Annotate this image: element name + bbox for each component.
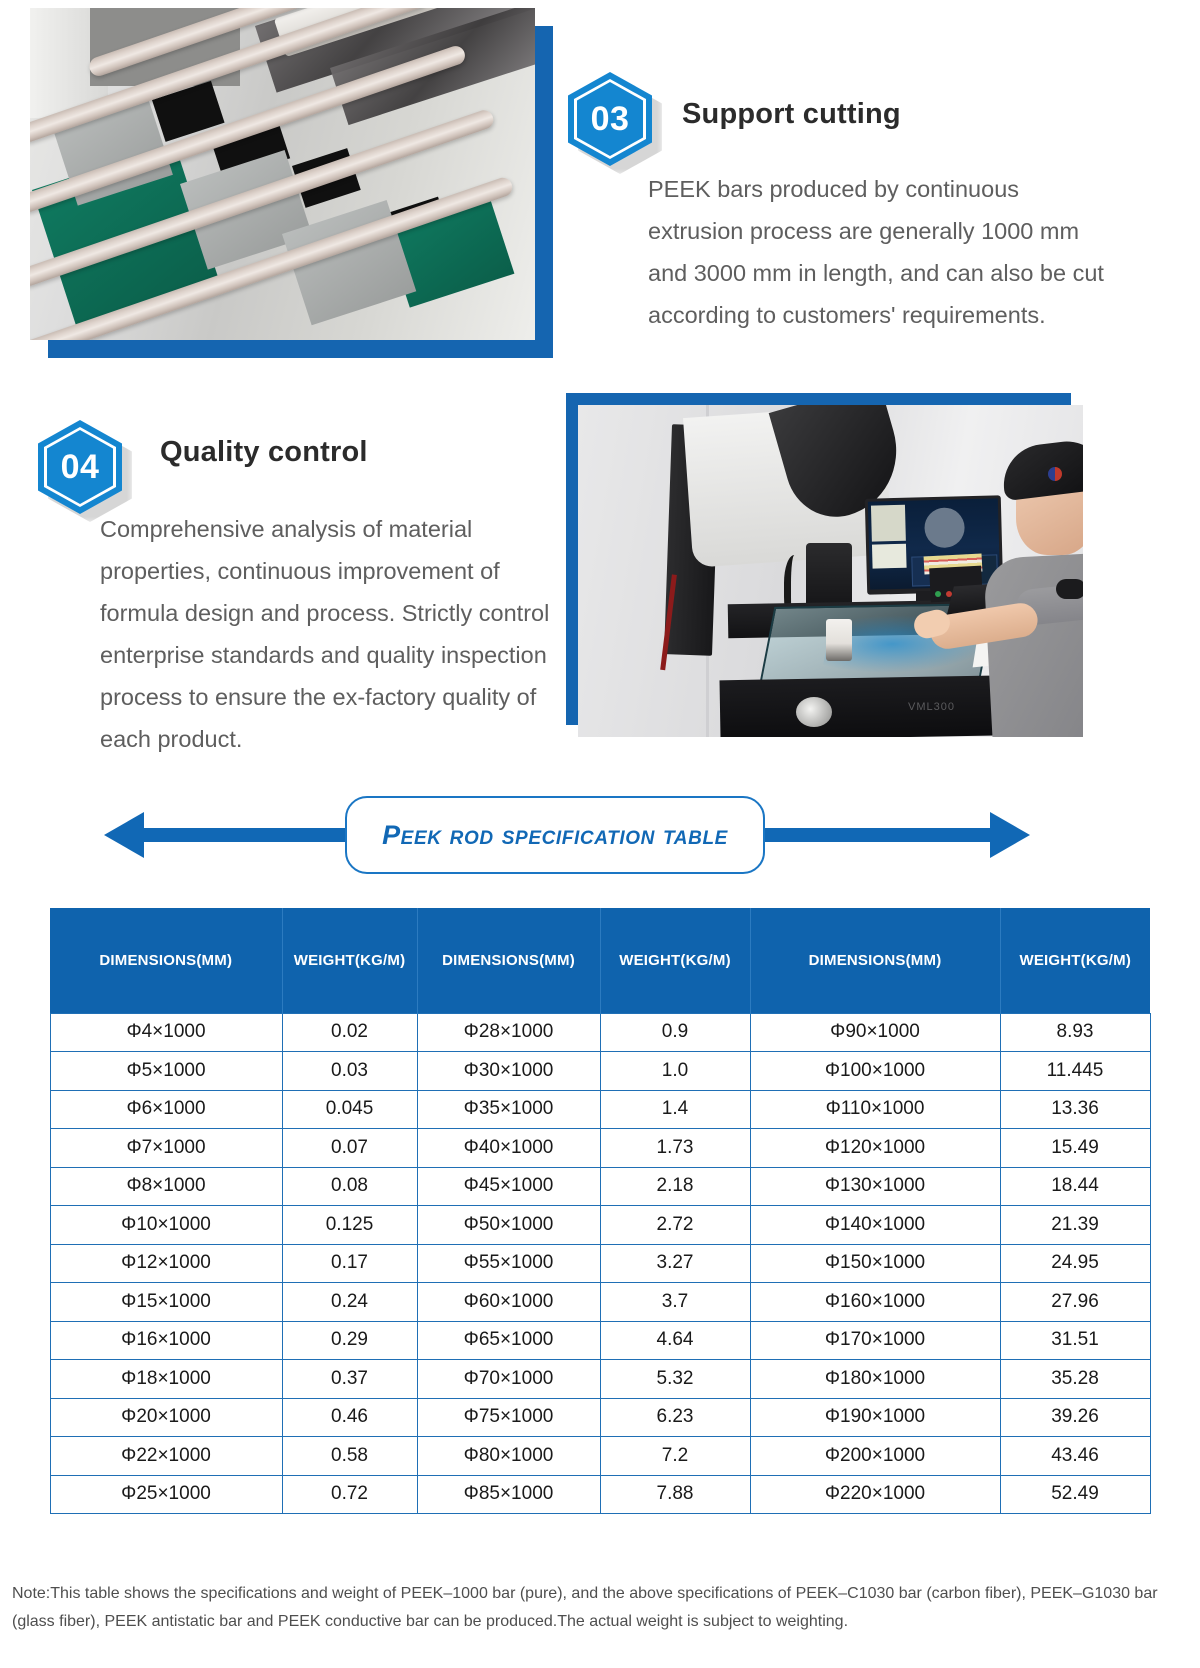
table-cell: 2.72 bbox=[600, 1206, 750, 1245]
table-cell: 0.46 bbox=[282, 1398, 417, 1437]
table-cell: 0.24 bbox=[282, 1283, 417, 1322]
machine-model-label: VML300 bbox=[908, 701, 955, 713]
table-cell: Φ7×1000 bbox=[50, 1129, 282, 1168]
table-body: Φ4×10000.02Φ28×10000.9Φ90×10008.93Φ5×100… bbox=[50, 1013, 1150, 1514]
table-cell: 3.7 bbox=[600, 1283, 750, 1322]
table-cell: 24.95 bbox=[1000, 1244, 1150, 1283]
table-row: Φ12×10000.17Φ55×10003.27Φ150×100024.95 bbox=[50, 1244, 1150, 1283]
table-header-cell: WEIGHT(KG/M) bbox=[600, 908, 750, 1013]
table-cell: Φ40×1000 bbox=[417, 1129, 600, 1168]
table-cell: 0.37 bbox=[282, 1360, 417, 1399]
product-spec-page: 03 Support cutting PEEK bars produced by… bbox=[0, 0, 1200, 1668]
table-cell: Φ15×1000 bbox=[50, 1283, 282, 1322]
table-cell: 31.51 bbox=[1000, 1321, 1150, 1360]
table-cell: Φ190×1000 bbox=[750, 1398, 1000, 1437]
table-header-cell: DIMENSIONS(MM) bbox=[750, 908, 1000, 1013]
table-row: Φ15×10000.24Φ60×10003.7Φ160×100027.96 bbox=[50, 1283, 1150, 1322]
table-cell: Φ4×1000 bbox=[50, 1013, 282, 1052]
peek-rod-specification-table: DIMENSIONS(MM) WEIGHT(KG/M) DIMENSIONS(M… bbox=[50, 908, 1151, 1514]
table-cell: Φ6×1000 bbox=[50, 1090, 282, 1129]
step-badge-03-number: 03 bbox=[568, 72, 652, 166]
quality-control-photo-frame: VML300 bbox=[578, 405, 1090, 750]
table-cell: Φ55×1000 bbox=[417, 1244, 600, 1283]
table-cell: 0.07 bbox=[282, 1129, 417, 1168]
table-cell: 0.17 bbox=[282, 1244, 417, 1283]
table-row: Φ22×10000.58Φ80×10007.2Φ200×100043.46 bbox=[50, 1437, 1150, 1476]
table-cell: Φ22×1000 bbox=[50, 1437, 282, 1476]
arrow-right-icon bbox=[990, 812, 1030, 858]
table-row: Φ16×10000.29Φ65×10004.64Φ170×100031.51 bbox=[50, 1321, 1150, 1360]
table-cell: Φ12×1000 bbox=[50, 1244, 282, 1283]
table-cell: Φ180×1000 bbox=[750, 1360, 1000, 1399]
table-row: Φ25×10000.72Φ85×10007.88Φ220×100052.49 bbox=[50, 1475, 1150, 1514]
table-cell: Φ20×1000 bbox=[50, 1398, 282, 1437]
table-cell: 27.96 bbox=[1000, 1283, 1150, 1322]
table-cell: Φ130×1000 bbox=[750, 1167, 1000, 1206]
section-03-title: Support cutting bbox=[682, 98, 901, 131]
peek-rods-cutting-photo bbox=[30, 8, 535, 340]
table-row: Φ6×10000.045Φ35×10001.4Φ110×100013.36 bbox=[50, 1090, 1150, 1129]
table-cell: 35.28 bbox=[1000, 1360, 1150, 1399]
section-support-cutting: 03 Support cutting PEEK bars produced by… bbox=[0, 0, 1200, 380]
table-cell: Φ140×1000 bbox=[750, 1206, 1000, 1245]
table-cell: 8.93 bbox=[1000, 1013, 1150, 1052]
table-cell: Φ220×1000 bbox=[750, 1475, 1000, 1514]
table-header-cell: WEIGHT(KG/M) bbox=[282, 908, 417, 1013]
table-cell: 4.64 bbox=[600, 1321, 750, 1360]
table-cell: 43.46 bbox=[1000, 1437, 1150, 1476]
table-note: Note:This table shows the specifications… bbox=[12, 1580, 1188, 1636]
table-row: Φ10×10000.125Φ50×10002.72Φ140×100021.39 bbox=[50, 1206, 1150, 1245]
arrow-right-line bbox=[765, 828, 990, 842]
table-cell: 0.08 bbox=[282, 1167, 417, 1206]
banner-title: Peek rod specification table bbox=[382, 820, 728, 851]
table-row: Φ4×10000.02Φ28×10000.9Φ90×10008.93 bbox=[50, 1013, 1150, 1052]
table-row: Φ7×10000.07Φ40×10001.73Φ120×100015.49 bbox=[50, 1129, 1150, 1168]
vision-measuring-machine-photo: VML300 bbox=[578, 405, 1083, 737]
table-cell: 1.0 bbox=[600, 1052, 750, 1091]
table-cell: 21.39 bbox=[1000, 1206, 1150, 1245]
table-cell: 15.49 bbox=[1000, 1129, 1150, 1168]
table-cell: 0.29 bbox=[282, 1321, 417, 1360]
table-cell: Φ28×1000 bbox=[417, 1013, 600, 1052]
table-cell: 0.58 bbox=[282, 1437, 417, 1476]
table-cell: Φ10×1000 bbox=[50, 1206, 282, 1245]
table-header-cell: DIMENSIONS(MM) bbox=[50, 908, 282, 1013]
table-cell: Φ25×1000 bbox=[50, 1475, 282, 1514]
table-cell: 3.27 bbox=[600, 1244, 750, 1283]
step-badge-03: 03 bbox=[568, 72, 652, 166]
table-cell: Φ75×1000 bbox=[417, 1398, 600, 1437]
table-cell: Φ30×1000 bbox=[417, 1052, 600, 1091]
table-cell: 11.445 bbox=[1000, 1052, 1150, 1091]
table-cell: 0.72 bbox=[282, 1475, 417, 1514]
table-cell: 2.18 bbox=[600, 1167, 750, 1206]
table-cell: Φ65×1000 bbox=[417, 1321, 600, 1360]
table-cell: Φ35×1000 bbox=[417, 1090, 600, 1129]
table-cell: 52.49 bbox=[1000, 1475, 1150, 1514]
arrow-left-line bbox=[140, 828, 365, 842]
banner-pill: Peek rod specification table bbox=[345, 796, 765, 874]
table-cell: Φ16×1000 bbox=[50, 1321, 282, 1360]
table-cell: 0.02 bbox=[282, 1013, 417, 1052]
table-header-row: DIMENSIONS(MM) WEIGHT(KG/M) DIMENSIONS(M… bbox=[50, 908, 1150, 1013]
table-header-cell: DIMENSIONS(MM) bbox=[417, 908, 600, 1013]
table-cell: 18.44 bbox=[1000, 1167, 1150, 1206]
section-03-body: PEEK bars produced by continuous extrusi… bbox=[648, 168, 1108, 336]
table-cell: Φ110×1000 bbox=[750, 1090, 1000, 1129]
table-row: Φ8×10000.08Φ45×10002.18Φ130×100018.44 bbox=[50, 1167, 1150, 1206]
table-cell: Φ18×1000 bbox=[50, 1360, 282, 1399]
table-cell: Φ200×1000 bbox=[750, 1437, 1000, 1476]
support-cutting-photo-frame bbox=[30, 8, 540, 343]
table-cell: Φ170×1000 bbox=[750, 1321, 1000, 1360]
table-cell: 5.32 bbox=[600, 1360, 750, 1399]
table-cell: Φ8×1000 bbox=[50, 1167, 282, 1206]
table-cell: Φ120×1000 bbox=[750, 1129, 1000, 1168]
table-cell: 0.03 bbox=[282, 1052, 417, 1091]
table-cell: Φ70×1000 bbox=[417, 1360, 600, 1399]
table-cell: Φ60×1000 bbox=[417, 1283, 600, 1322]
table-header-cell: WEIGHT(KG/M) bbox=[1000, 908, 1150, 1013]
step-badge-04: 04 bbox=[38, 420, 122, 514]
table-cell: 6.23 bbox=[600, 1398, 750, 1437]
step-badge-04-number: 04 bbox=[38, 420, 122, 514]
table-cell: 0.125 bbox=[282, 1206, 417, 1245]
table-cell: 39.26 bbox=[1000, 1398, 1150, 1437]
table-cell: 7.88 bbox=[600, 1475, 750, 1514]
table-cell: Φ100×1000 bbox=[750, 1052, 1000, 1091]
table-row: Φ20×10000.46Φ75×10006.23Φ190×100039.26 bbox=[50, 1398, 1150, 1437]
table-cell: 0.045 bbox=[282, 1090, 417, 1129]
table-cell: Φ5×1000 bbox=[50, 1052, 282, 1091]
table-cell: Φ90×1000 bbox=[750, 1013, 1000, 1052]
table-cell: 1.73 bbox=[600, 1129, 750, 1168]
table-cell: 1.4 bbox=[600, 1090, 750, 1129]
table-cell: 13.36 bbox=[1000, 1090, 1150, 1129]
spec-table-banner: Peek rod specification table bbox=[0, 780, 1200, 890]
table-cell: Φ160×1000 bbox=[750, 1283, 1000, 1322]
table-row: Φ5×10000.03Φ30×10001.0Φ100×100011.445 bbox=[50, 1052, 1150, 1091]
table-cell: 0.9 bbox=[600, 1013, 750, 1052]
table-cell: Φ85×1000 bbox=[417, 1475, 600, 1514]
section-04-title: Quality control bbox=[160, 436, 368, 469]
spec-table-wrapper: DIMENSIONS(MM) WEIGHT(KG/M) DIMENSIONS(M… bbox=[0, 908, 1200, 1514]
table-cell: Φ80×1000 bbox=[417, 1437, 600, 1476]
table-cell: Φ50×1000 bbox=[417, 1206, 600, 1245]
section-04-body: Comprehensive analysis of material prope… bbox=[100, 508, 570, 760]
section-quality-control: 04 Quality control Comprehensive analysi… bbox=[0, 400, 1200, 770]
table-cell: 7.2 bbox=[600, 1437, 750, 1476]
table-row: Φ18×10000.37Φ70×10005.32Φ180×100035.28 bbox=[50, 1360, 1150, 1399]
table-cell: Φ45×1000 bbox=[417, 1167, 600, 1206]
arrow-left-icon bbox=[104, 812, 144, 858]
table-cell: Φ150×1000 bbox=[750, 1244, 1000, 1283]
